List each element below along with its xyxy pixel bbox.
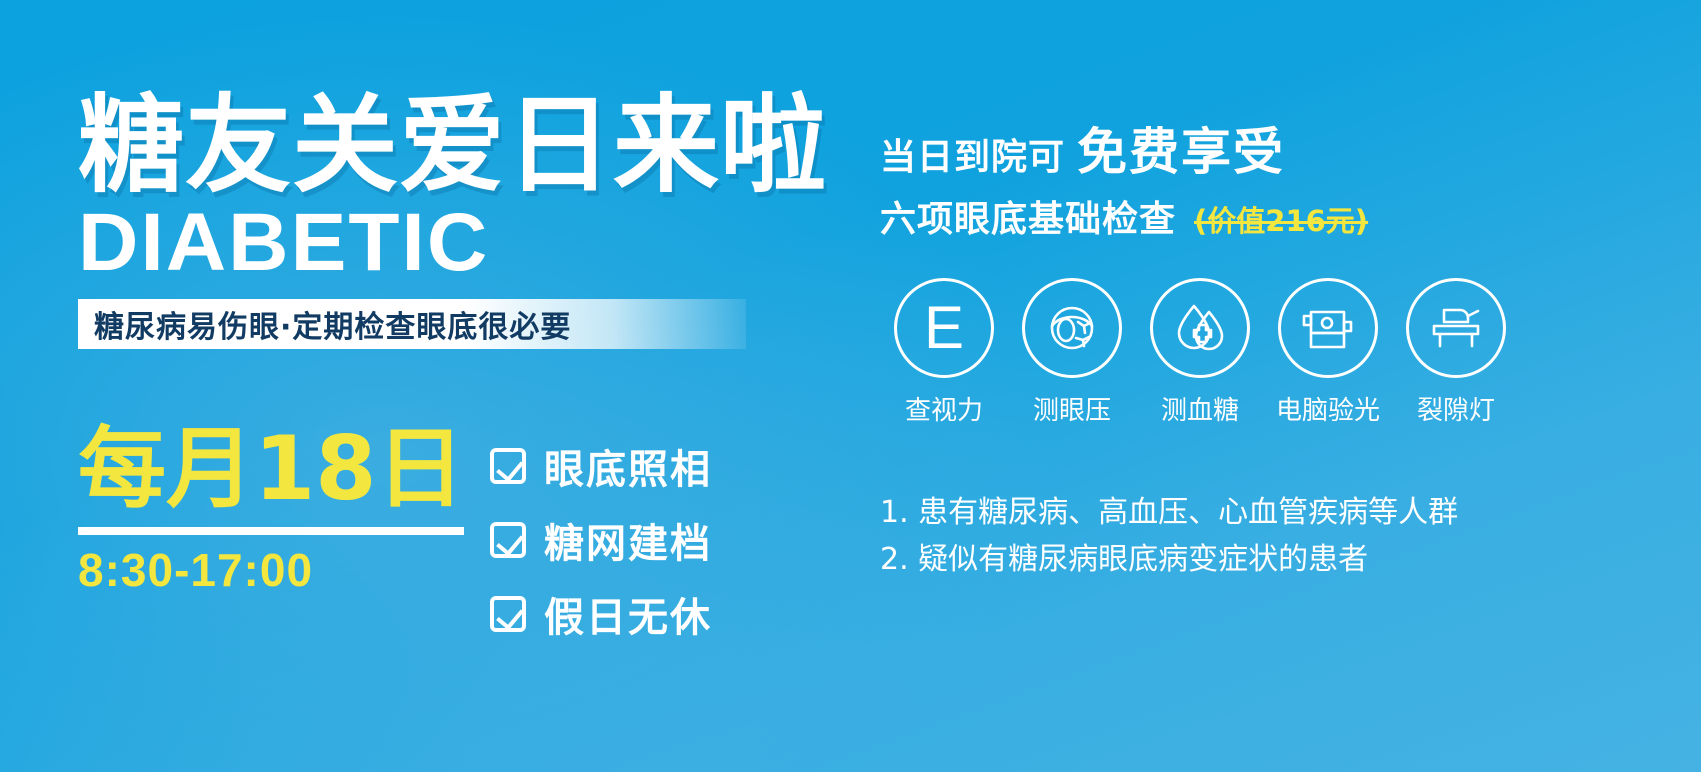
left-content-column: 糖友关爱日来啦 DIABETIC 糖尿病易伤眼·定期检查眼底很必要 <box>78 92 868 349</box>
checklist-label: 糖网建档 <box>544 511 712 569</box>
checklist-label: 假日无休 <box>544 585 712 643</box>
date-divider <box>78 527 464 535</box>
refractor-glyph <box>1296 296 1360 360</box>
promo-headline-line-2: 六项眼底基础检查 (价值216元) <box>880 190 1640 242</box>
note-line-1: 1. 患有糖尿病、高血压、心血管疾病等人群 <box>880 490 1600 537</box>
service-checklist: 眼底照相 糖网建档 假日无休 <box>490 425 712 659</box>
headline-chinese: 糖友关爱日来啦 <box>78 92 868 200</box>
eligibility-notes: 1. 患有糖尿病、高血压、心血管疾病等人群 2. 疑似有糖尿病眼底病变症状的患者 <box>880 490 1600 583</box>
service-label: 测眼压 <box>1033 390 1111 427</box>
service-item-slit-lamp: 裂隙灯 <box>1392 278 1520 427</box>
promo-emphasis-text: 免费享受 <box>1077 112 1285 184</box>
checkbox-checked-icon <box>490 596 526 632</box>
checkbox-checked-icon <box>490 522 526 558</box>
droplet-cross-glyph <box>1168 296 1232 360</box>
slit-lamp-icon <box>1406 278 1506 378</box>
eye-vessels-glyph <box>1040 296 1104 360</box>
note-line-2: 2. 疑似有糖尿病眼底病变症状的患者 <box>880 537 1600 584</box>
service-label: 查视力 <box>905 390 983 427</box>
promo-original-price: (价值216元) <box>1194 198 1368 240</box>
subtitle-text: 糖尿病易伤眼·定期检查眼底很必要 <box>78 302 571 346</box>
promotional-banner: 糖友关爱日来啦 DIABETIC 糖尿病易伤眼·定期检查眼底很必要 每月18日 … <box>0 0 1701 772</box>
event-date: 每月18日 <box>78 425 468 513</box>
checkbox-checked-icon <box>490 448 526 484</box>
service-item-autorefractor: 电脑验光 <box>1264 278 1392 427</box>
list-item: 眼底照相 <box>490 437 712 495</box>
promo-subject-text: 六项眼底基础检查 <box>880 190 1176 242</box>
service-label: 测血糖 <box>1161 390 1239 427</box>
promo-prefix-text: 当日到院可 <box>880 128 1065 180</box>
service-item-eye-pressure: 测眼压 <box>1008 278 1136 427</box>
date-block: 每月18日 8:30-17:00 <box>78 425 468 659</box>
event-time-range: 8:30-17:00 <box>78 543 468 597</box>
eye-pressure-icon <box>1022 278 1122 378</box>
letter-e-glyph: E <box>924 298 964 358</box>
schedule-and-services-row: 每月18日 8:30-17:00 眼底照相 糖网建档 假日无休 <box>78 425 878 659</box>
vision-chart-e-icon: E <box>894 278 994 378</box>
slit-lamp-glyph <box>1424 296 1488 360</box>
checklist-label: 眼底照相 <box>544 437 712 495</box>
service-item-vision: E 查视力 <box>880 278 1008 427</box>
service-item-blood-glucose: 测血糖 <box>1136 278 1264 427</box>
subtitle-bar: 糖尿病易伤眼·定期检查眼底很必要 <box>78 299 746 349</box>
list-item: 糖网建档 <box>490 511 712 569</box>
blood-glucose-drop-icon <box>1150 278 1250 378</box>
service-icon-row: E 查视力 测眼压 <box>880 278 1520 427</box>
headline-english: DIABETIC <box>78 204 884 283</box>
service-label: 裂隙灯 <box>1417 390 1495 427</box>
service-label: 电脑验光 <box>1276 390 1380 427</box>
list-item: 假日无休 <box>490 585 712 643</box>
promo-headline-line-1: 当日到院可 免费享受 <box>880 112 1640 184</box>
right-content-column: 当日到院可 免费享受 六项眼底基础检查 (价值216元) <box>880 112 1640 242</box>
autorefractor-device-icon <box>1278 278 1378 378</box>
